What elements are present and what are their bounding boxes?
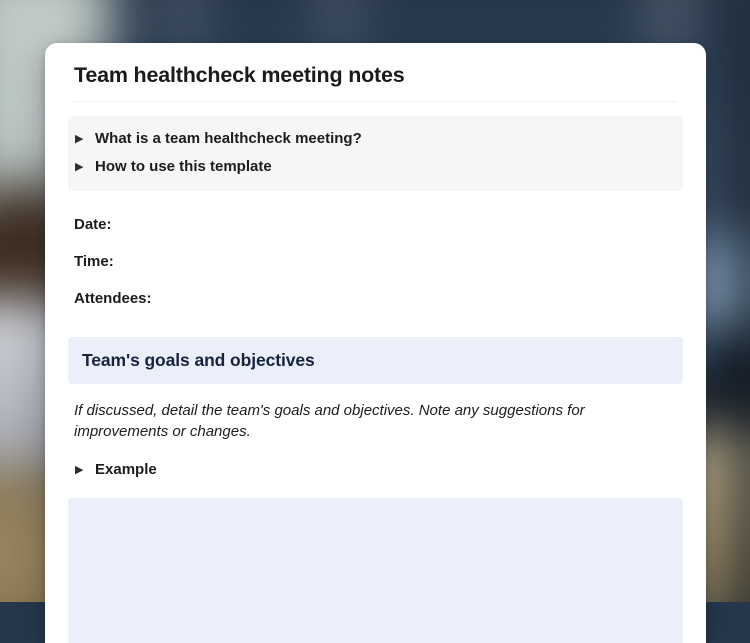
page-title: Team healthcheck meeting notes [68, 43, 683, 89]
toggle-what-is-a-team-healthcheck-meeting[interactable]: ▶ What is a team healthcheck meeting? [68, 125, 683, 153]
document-body: Team healthcheck meeting notes ▶ What is… [45, 43, 706, 643]
collapsed-triangle-icon[interactable]: ▶ [75, 460, 95, 480]
title-divider [74, 101, 677, 102]
field-label-date[interactable]: Date: [68, 215, 683, 235]
section-heading-banner: Team's goals and objectives [68, 337, 683, 384]
intro-toggle-group: ▶ What is a team healthcheck meeting? ▶ … [68, 116, 683, 191]
toggle-example[interactable]: ▶ Example [68, 456, 683, 484]
collapsed-triangle-icon[interactable]: ▶ [75, 129, 95, 149]
toggle-label: Example [95, 460, 157, 480]
toggle-how-to-use-this-template[interactable]: ▶ How to use this template [68, 153, 683, 181]
collapsed-triangle-icon[interactable]: ▶ [75, 157, 95, 177]
section-heading-text: Team's goals and objectives [82, 349, 669, 371]
field-label-time[interactable]: Time: [68, 252, 683, 272]
field-label-attendees[interactable]: Attendees: [68, 289, 683, 309]
section-content-panel[interactable] [68, 498, 683, 643]
background-right-edge [735, 0, 750, 602]
section-helper-text: If discussed, detail the team's goals an… [74, 400, 677, 442]
toggle-label: How to use this template [95, 157, 272, 177]
document-card: Team healthcheck meeting notes ▶ What is… [45, 43, 706, 643]
toggle-label: What is a team healthcheck meeting? [95, 129, 362, 149]
